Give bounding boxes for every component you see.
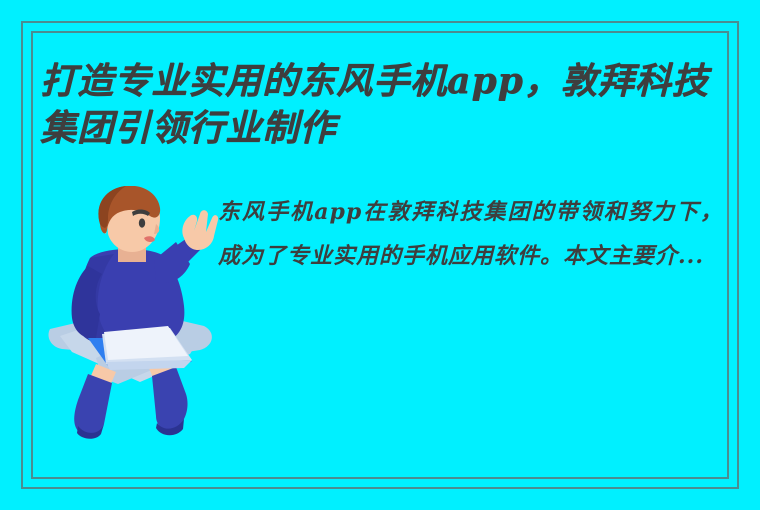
page-title: 打造专业实用的东风手机app，敦拜科技集团引领行业制作 <box>40 58 740 152</box>
illustration-person-with-laptop <box>44 186 219 441</box>
article-summary: 东风手机app在敦拜科技集团的带领和努力下，成为了专业实用的手机应用软件。本文主… <box>218 190 723 278</box>
poster-canvas: 打造专业实用的东风手机app，敦拜科技集团引领行业制作 东风手机app在敦拜科技… <box>0 0 760 510</box>
